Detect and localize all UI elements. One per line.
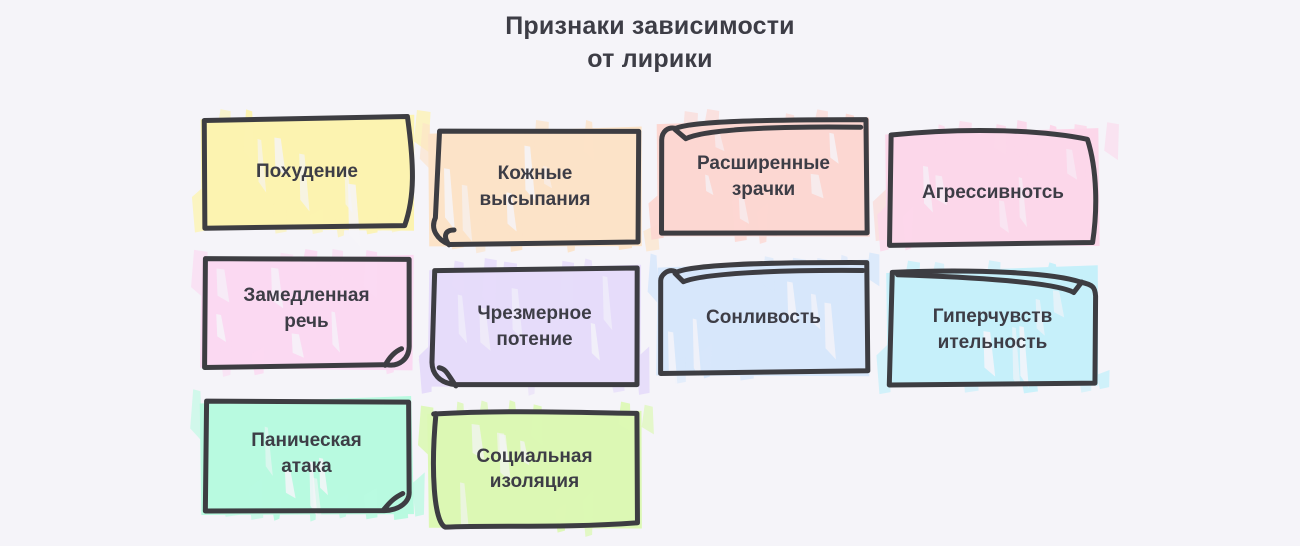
symptom-card[interactable]: Расширенные зрачки — [659, 119, 868, 234]
page-title: Признаки зависимости от лирики — [0, 10, 1300, 76]
symptom-card[interactable]: Гиперчувств ительность — [888, 268, 1097, 385]
symptom-card[interactable]: Похудение — [202, 116, 412, 228]
card-shape — [888, 268, 1097, 385]
symptom-card[interactable]: Чрезмерное потение — [430, 267, 639, 386]
symptom-card[interactable]: Паническая атака — [202, 399, 411, 512]
card-shape — [659, 262, 868, 374]
card-shape — [202, 257, 411, 368]
card-shape — [888, 130, 1098, 245]
symptom-card[interactable]: Сонливость — [659, 262, 868, 374]
card-shape — [430, 267, 639, 386]
card-fill — [419, 258, 650, 396]
card-shape — [659, 119, 868, 234]
card-shape — [430, 128, 640, 245]
symptom-card[interactable]: Кожные высыпания — [430, 128, 640, 245]
mindmap-board: Признаки зависимости от лирики Похудение… — [0, 0, 1300, 546]
card-shape — [202, 399, 411, 512]
card-shape — [430, 410, 639, 528]
card-shape — [202, 116, 412, 228]
symptom-card[interactable]: Замедленная речь — [202, 257, 411, 368]
card-fill — [191, 249, 433, 377]
card-fill — [420, 120, 660, 253]
symptom-card[interactable]: Агрессивнотсь — [888, 130, 1098, 245]
symptom-card[interactable]: Социальная изоляция — [430, 410, 639, 528]
card-fill — [418, 400, 654, 537]
